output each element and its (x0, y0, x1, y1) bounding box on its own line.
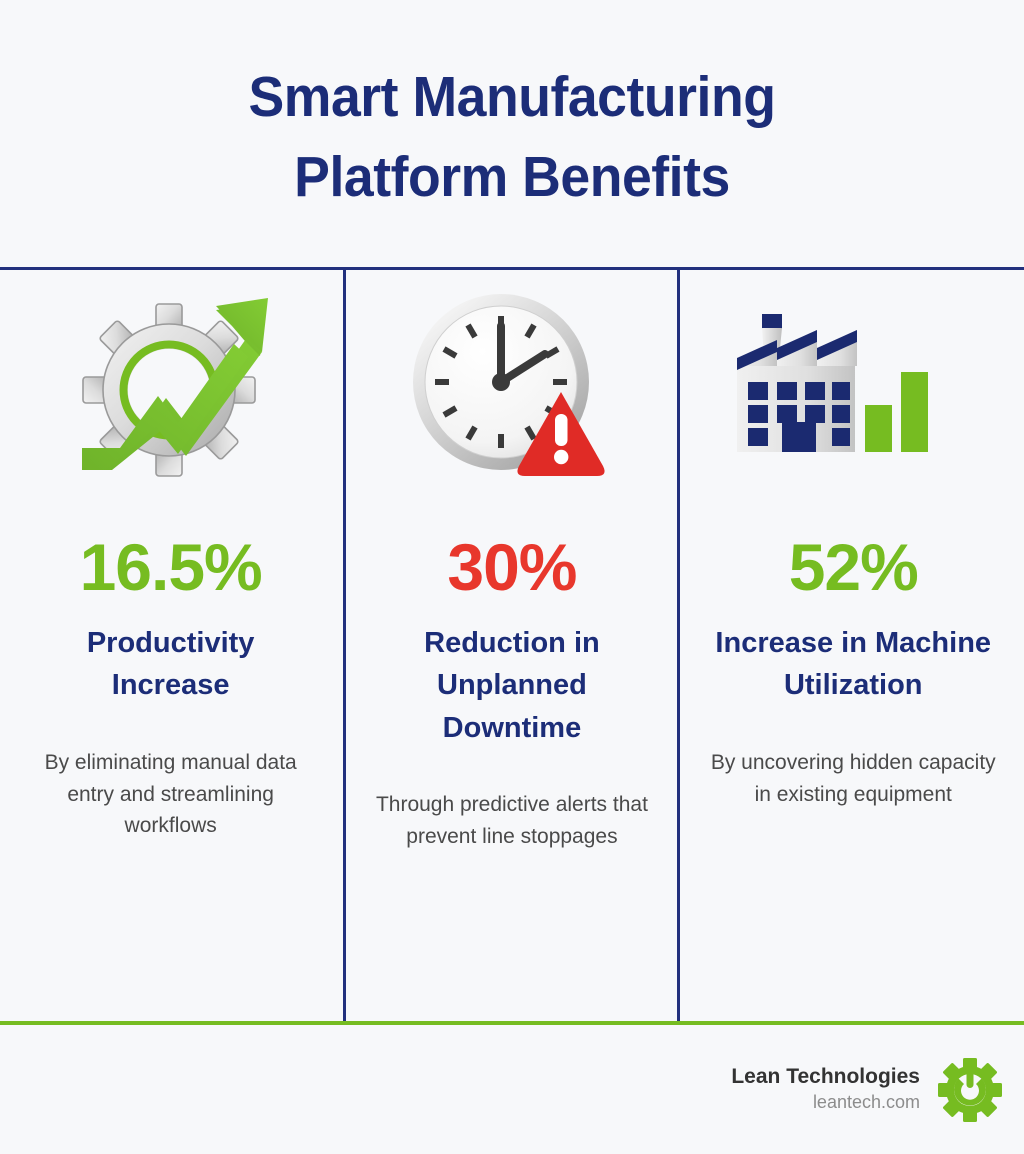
footer: Lean Technologies leantech.com (0, 1025, 1024, 1154)
stat-value: 30% (447, 534, 576, 600)
footer-brand-text: Lean Technologies leantech.com (731, 1064, 920, 1115)
gear-growth-arrow-icon (66, 290, 276, 490)
stat-description: By uncovering hidden capacity in existin… (706, 747, 1001, 811)
icon-slot (355, 270, 668, 510)
stat-label: Increase in Machine Utilization (713, 622, 993, 707)
stat-label: Reduction in Unplanned Downtime (372, 622, 652, 749)
brand-name: Lean Technologies (731, 1064, 920, 1090)
benefit-column-downtime: 30% Reduction in Unplanned Downtime Thro… (341, 270, 682, 1022)
benefit-column-productivity: 16.5% Productivity Increase By eliminati… (0, 270, 341, 1022)
benefits-columns: 16.5% Productivity Increase By eliminati… (0, 270, 1024, 1022)
infographic-poster: Smart Manufacturing Platform Benefits (0, 0, 1024, 1154)
benefit-column-utilization: 52% Increase in Machine Utilization By u… (683, 270, 1024, 1022)
page-title-line-1: Smart Manufacturing (31, 58, 994, 138)
clock-warning-icon (409, 290, 614, 490)
factory-bar-chart-icon (729, 300, 977, 480)
page-title: Smart Manufacturing Platform Benefits (0, 58, 1024, 218)
stat-value: 16.5% (80, 534, 262, 600)
stat-description: Through predictive alerts that prevent l… (364, 789, 659, 853)
gear-power-icon (938, 1058, 1002, 1122)
stat-value: 52% (789, 534, 918, 600)
stat-description: By eliminating manual data entry and str… (23, 747, 318, 843)
icon-slot (14, 270, 327, 510)
page-title-line-2: Platform Benefits (31, 138, 994, 218)
stat-label: Productivity Increase (31, 622, 311, 707)
icon-slot (697, 270, 1010, 510)
brand-website[interactable]: leantech.com (731, 1090, 920, 1114)
